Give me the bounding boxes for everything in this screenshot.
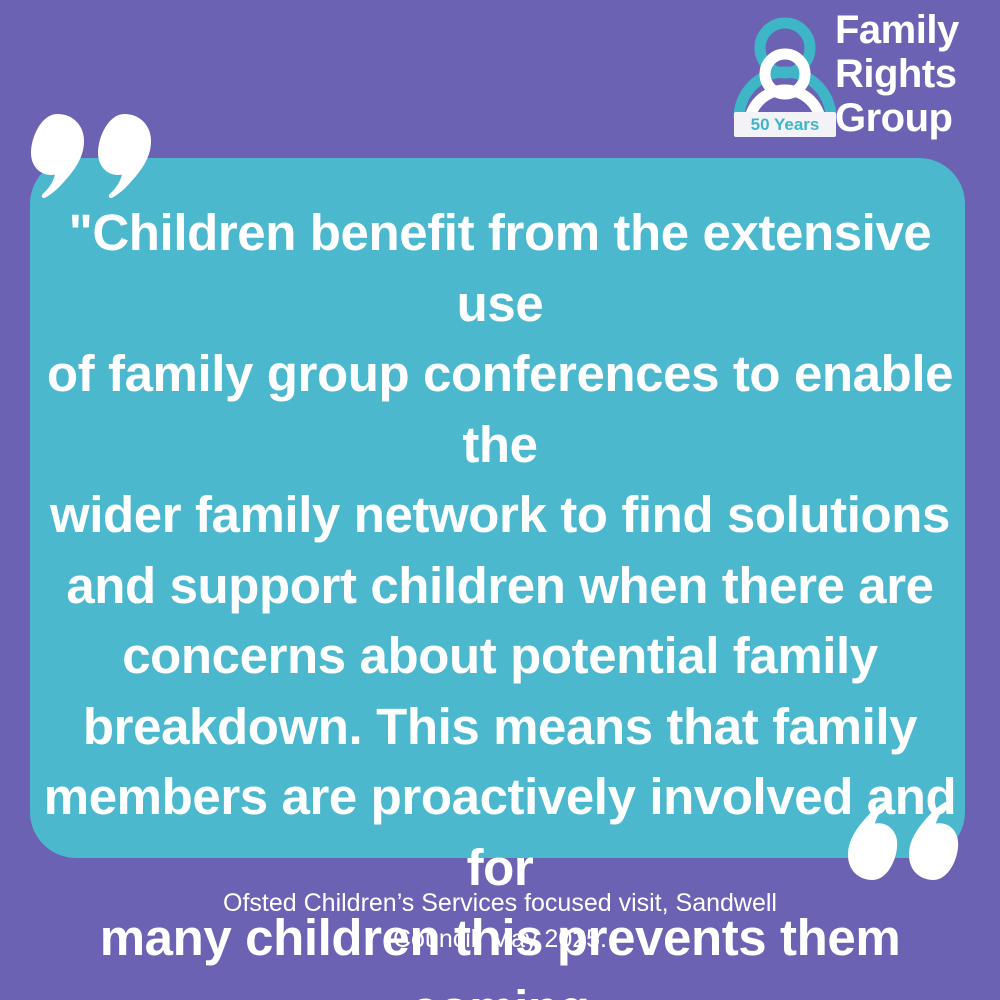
open-quote-icon [30, 112, 152, 200]
attribution-text: Ofsted Children’s Services focused visit… [150, 885, 850, 957]
logo-word-group: Group [835, 96, 995, 140]
logo-word-family: Family [835, 8, 995, 52]
family-figures-icon: 50 Years [730, 12, 840, 140]
close-quote-icon [847, 800, 959, 882]
anniversary-badge-label: 50 Years [751, 115, 820, 134]
family-rights-group-logo: 50 Years Family Rights Group [730, 8, 992, 143]
logo-word-rights: Rights [835, 52, 995, 96]
quote-text: "Children benefit from the extensive use… [40, 198, 960, 1000]
logo-wordmark: Family Rights Group [835, 8, 995, 143]
social-quote-graphic: 50 Years Family Rights Group "Children b… [0, 0, 1000, 1000]
